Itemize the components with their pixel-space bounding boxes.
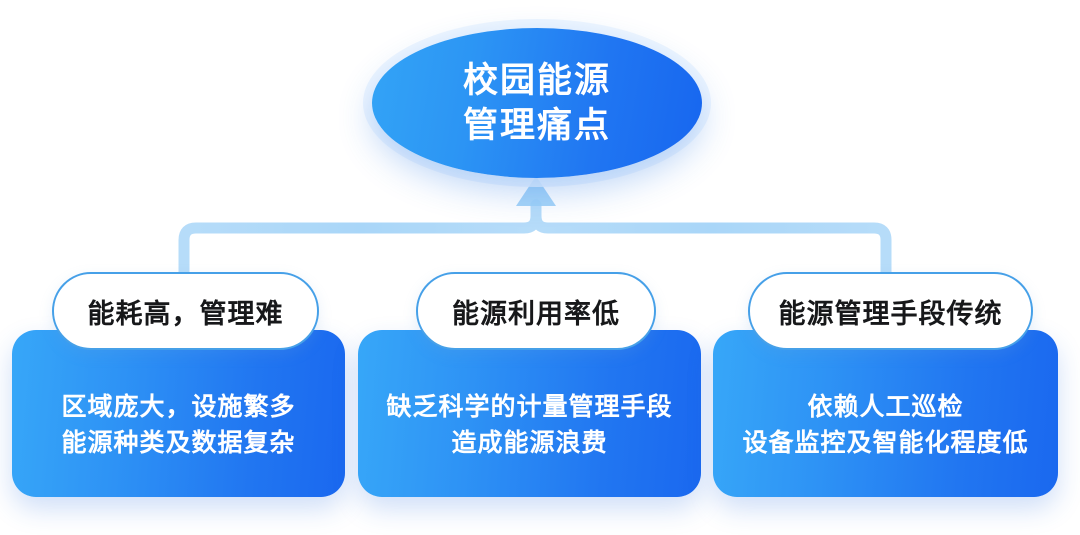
branch-1-desc-line-1: 区域庞大，设施繁多 bbox=[61, 390, 295, 426]
branch-2-badge-label: 能源利用率低 bbox=[452, 292, 620, 331]
branch-card-3[interactable]: 依赖人工巡检 设备监控及智能化程度低 bbox=[713, 330, 1058, 497]
root-title-line-2: 管理痛点 bbox=[463, 103, 611, 149]
branch-2-desc-line-2: 造成能源浪费 bbox=[451, 426, 607, 462]
diagram-canvas: 校园能源 管理痛点 区域庞大，设施繁多 能源种类及数据复杂 缺乏科学的计量管理手… bbox=[0, 0, 1080, 535]
branch-3-desc-line-2: 设备监控及智能化程度低 bbox=[742, 426, 1028, 462]
root-node-campus-energy-pain-points[interactable]: 校园能源 管理痛点 bbox=[372, 28, 702, 178]
branch-3-badge[interactable]: 能源管理手段传统 bbox=[748, 272, 1033, 350]
branch-card-1[interactable]: 区域庞大，设施繁多 能源种类及数据复杂 bbox=[12, 330, 345, 497]
connector-arrow-icon bbox=[516, 176, 556, 206]
branch-1-desc-line-2: 能源种类及数据复杂 bbox=[61, 426, 295, 462]
branch-card-2[interactable]: 缺乏科学的计量管理手段 造成能源浪费 bbox=[358, 330, 701, 497]
root-title-line-1: 校园能源 bbox=[463, 58, 611, 104]
branch-1-badge-label: 能耗高，管理难 bbox=[88, 292, 284, 331]
branch-3-desc-line-1: 依赖人工巡检 bbox=[807, 390, 963, 426]
branch-2-badge[interactable]: 能源利用率低 bbox=[416, 272, 656, 350]
branch-3-badge-label: 能源管理手段传统 bbox=[779, 292, 1003, 331]
branch-1-badge[interactable]: 能耗高，管理难 bbox=[52, 272, 319, 350]
branch-2-desc-line-1: 缺乏科学的计量管理手段 bbox=[386, 390, 672, 426]
